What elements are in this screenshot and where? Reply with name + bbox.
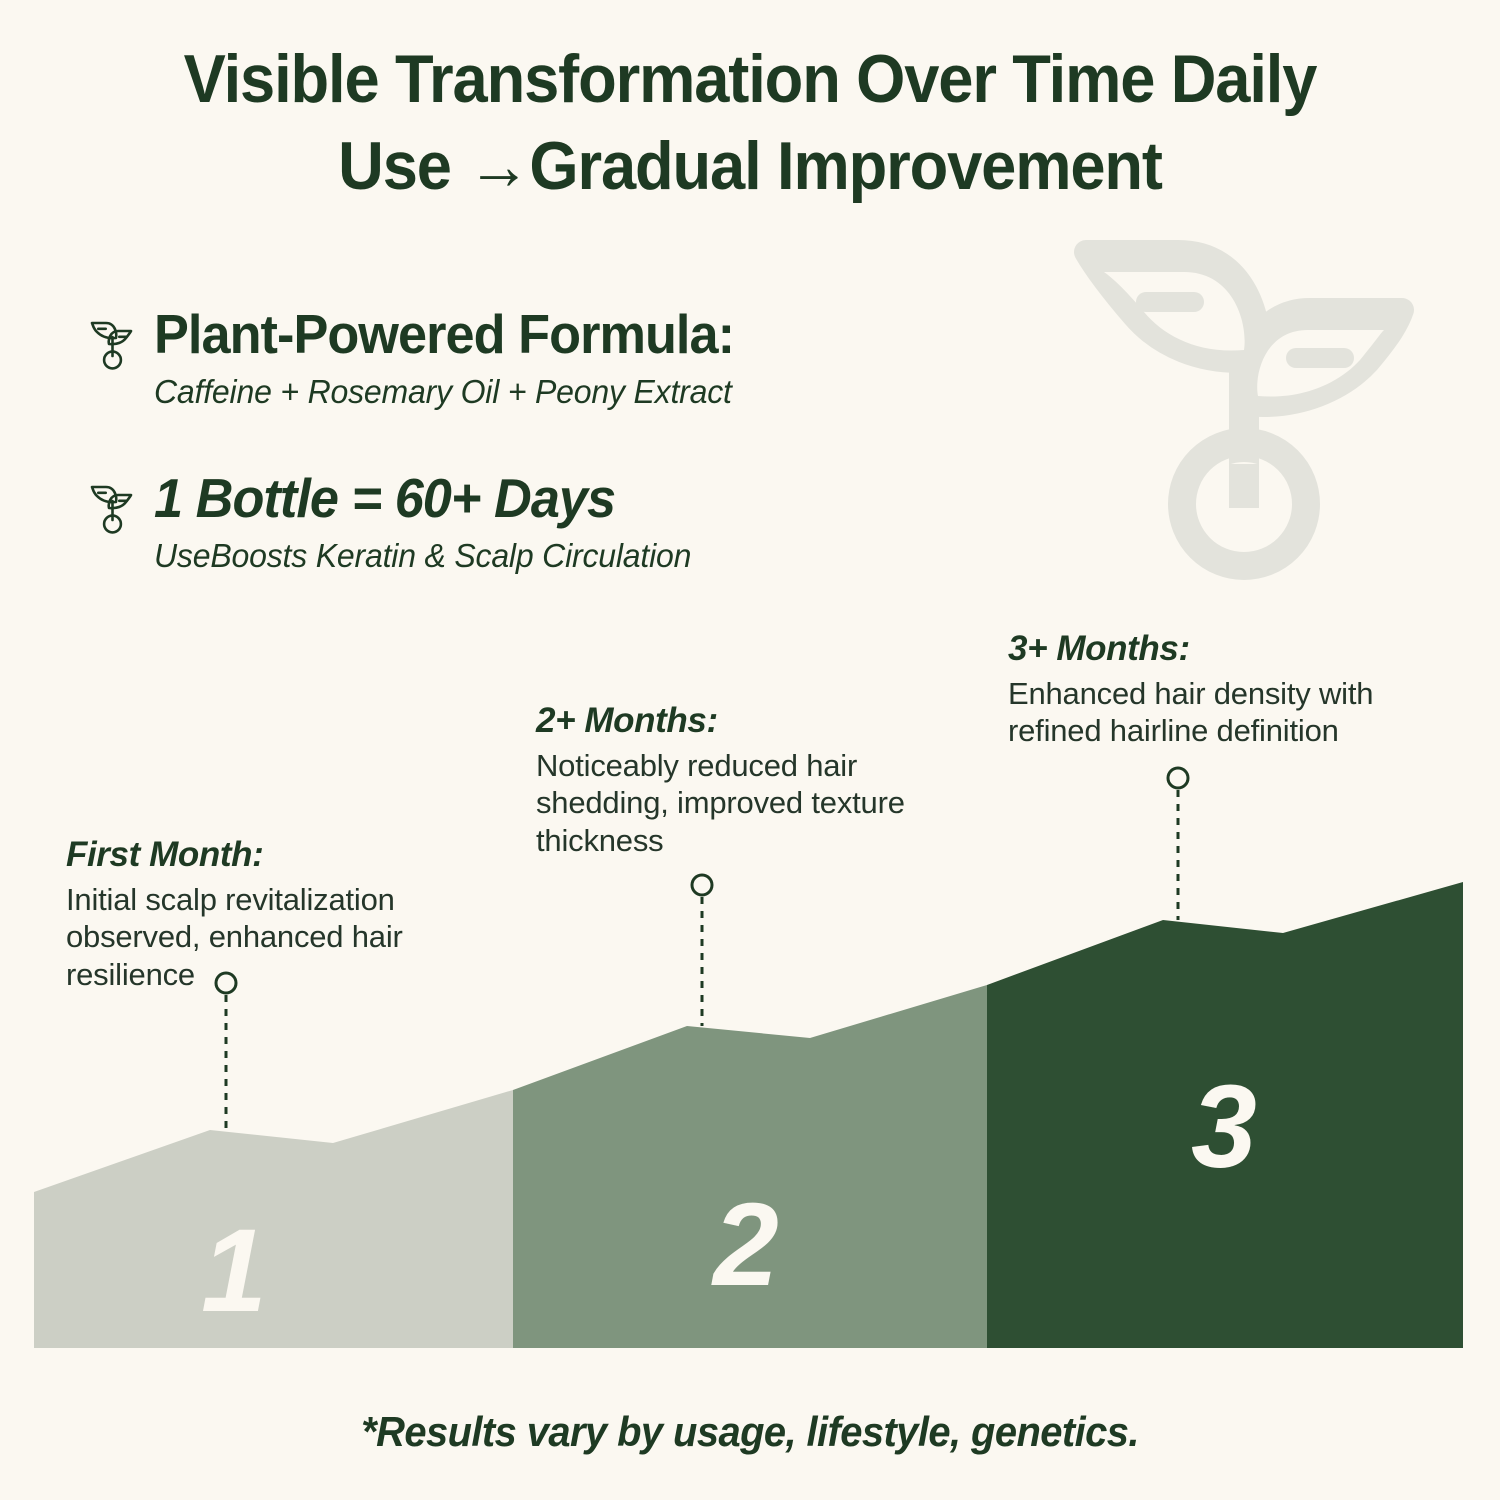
callout-title: 3+ Months: <box>1008 630 1438 669</box>
callout-title: 2+ Months: <box>536 702 966 741</box>
callout-title: First Month: <box>66 836 466 875</box>
callout-first-month: First Month: Initial scalp revitalizatio… <box>66 836 466 994</box>
callout-body: Initial scalp revitalization observed, e… <box>66 881 466 994</box>
callout-three-months: 3+ Months: Enhanced hair density with re… <box>1008 630 1438 750</box>
stage-number-3: 3 <box>1178 1068 1268 1186</box>
leader-dot-3 <box>1168 768 1188 788</box>
stage-number-1: 1 <box>188 1212 278 1330</box>
leader-dot-2 <box>692 875 712 895</box>
footer-disclaimer: *Results vary by usage, lifestyle, genet… <box>76 1408 1425 1456</box>
infographic-root: Visible Transformation Over Time Daily U… <box>0 0 1500 1500</box>
stage-number-2: 2 <box>700 1186 790 1304</box>
callout-two-months: 2+ Months: Noticeably reduced hair shedd… <box>536 702 966 860</box>
callout-body: Enhanced hair density with refined hairl… <box>1008 675 1438 751</box>
callout-body: Noticeably reduced hair shedding, improv… <box>536 747 966 860</box>
